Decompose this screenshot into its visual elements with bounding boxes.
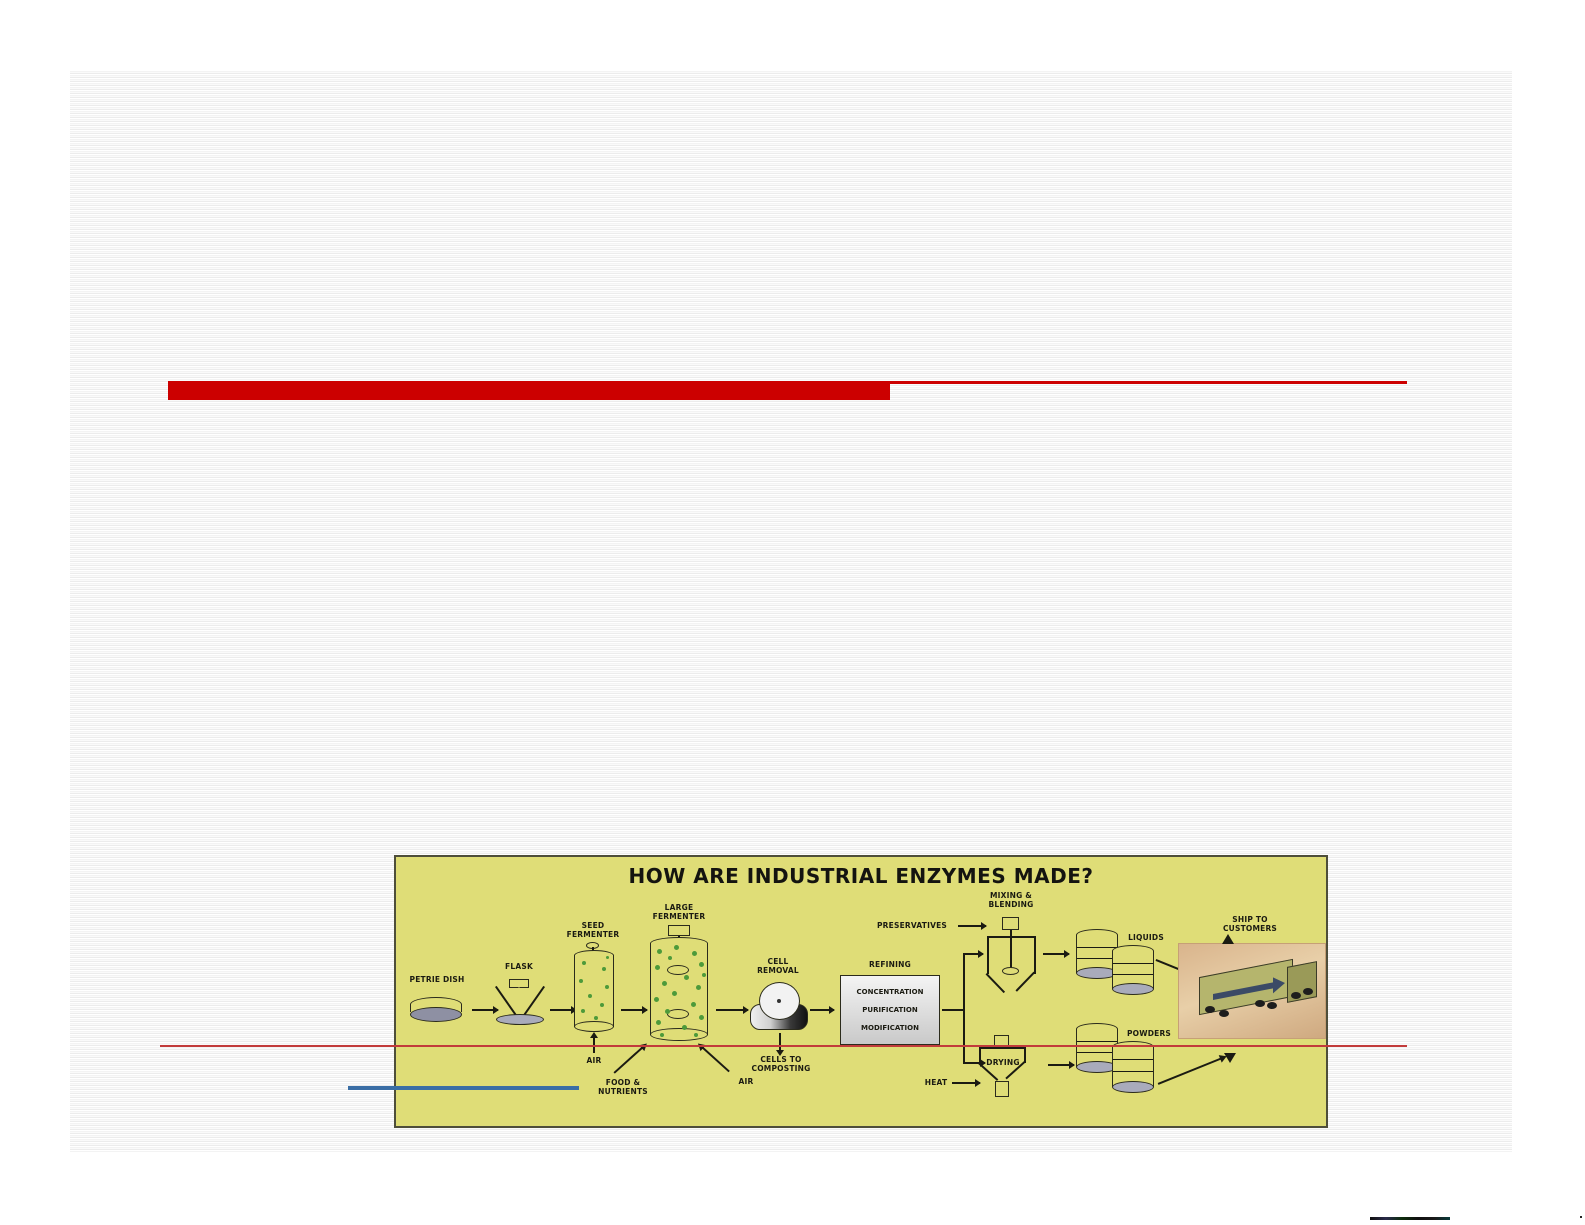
refining-step-purification: PURIFICATION: [841, 1006, 939, 1014]
slide-canvas: HOW ARE INDUSTRIAL ENZYMES MADE? PETRIE …: [70, 70, 1512, 1152]
label-cells-to-composting: CELLS TO COMPOSTING: [746, 1055, 816, 1073]
powders-drum-1-rib: [1077, 1052, 1117, 1053]
cell-speck: [582, 961, 586, 965]
cell-speck: [699, 962, 704, 967]
cell-speck: [606, 956, 609, 959]
mixer-tank-rim: [987, 936, 1035, 938]
large-fermenter-cap: [668, 925, 690, 936]
arrow-preservatives-in: [958, 925, 986, 927]
diagram-title: HOW ARE INDUSTRIAL ENZYMES MADE?: [396, 864, 1326, 888]
cell-speck: [602, 967, 606, 971]
liquids-drum-1-rib: [1077, 958, 1117, 959]
cell-speck: [691, 1002, 696, 1007]
cell-speck: [684, 975, 689, 980]
arrow-seed-to-large-fermenter: [621, 1009, 647, 1011]
label-air-seed: AIR: [576, 1056, 612, 1065]
refining-box[interactable]: CONCENTRATION PURIFICATION MODIFICATION: [840, 975, 940, 1045]
arrow-air-into-large-fermenter: [699, 1044, 730, 1072]
cell-speck: [655, 965, 660, 970]
label-flask: FLASK: [491, 962, 547, 971]
cell-speck: [682, 1025, 687, 1030]
arrow-heat-into-dryer: [952, 1082, 980, 1084]
cell-speck: [696, 985, 701, 990]
cell-speck: [656, 1020, 661, 1025]
cell-speck: [605, 985, 609, 989]
truck-wheel: [1255, 1000, 1265, 1007]
shipping-truck-image: [1178, 943, 1326, 1039]
arrow-mixing-to-liquids: [1043, 953, 1069, 955]
label-refining: REFINING: [842, 960, 938, 969]
powders-drum-2-rib: [1113, 1059, 1153, 1060]
label-air-large: AIR: [726, 1077, 766, 1086]
label-food-nutrients: FOOD & NUTRIENTS: [586, 1078, 660, 1096]
cell-speck: [665, 1009, 670, 1014]
arrow-to-mixing-blending: [963, 953, 983, 955]
label-liquids: LIQUIDS: [1114, 933, 1178, 942]
refining-step-concentration: CONCENTRATION: [841, 988, 939, 996]
label-heat: HEAT: [918, 1078, 954, 1087]
arrow-cells-to-composting: [779, 1033, 781, 1051]
truck-wheel: [1219, 1010, 1229, 1017]
shipping-arrowhead-top: [1222, 934, 1234, 944]
arrow-drying-to-powders: [1048, 1064, 1074, 1066]
refining-outlet-stub: [942, 1009, 964, 1011]
cell-speck: [674, 945, 679, 950]
cell-speck: [579, 979, 583, 983]
arrow-flask-to-seed-fermenter: [550, 1009, 576, 1011]
label-powders: POWDERS: [1114, 1029, 1184, 1038]
powders-drum-2-rib: [1113, 1071, 1153, 1072]
refining-step-modification: MODIFICATION: [841, 1024, 939, 1032]
mixer-tank-left-wall: [987, 936, 989, 974]
mixer-cone-left: [986, 973, 1005, 993]
truck-wheel: [1205, 1006, 1215, 1013]
cell-speck: [600, 1003, 604, 1007]
liquids-drum-2-bottom: [1112, 983, 1154, 995]
arrow-fermenter-to-cell-removal: [716, 1009, 748, 1011]
label-drying: DRYING: [980, 1058, 1026, 1067]
bottom-edge-dot-artifact: [1580, 1216, 1582, 1218]
truck-wheel: [1303, 988, 1313, 995]
mixer-tank-right-wall: [1034, 936, 1036, 974]
cell-speck: [662, 981, 667, 986]
label-preservatives: PRESERVATIVES: [866, 921, 958, 930]
liquids-drum-1-rib: [1077, 947, 1117, 948]
flask-liquid: [496, 1014, 544, 1025]
mixer-impeller: [1002, 967, 1019, 975]
large-fermenter-bottom: [650, 1028, 708, 1041]
arrow-cell-removal-to-refining: [810, 1009, 834, 1011]
slide-body-text[interactable]: [168, 415, 1408, 765]
powders-drum-1-rib: [1077, 1041, 1117, 1042]
cell-speck: [581, 1009, 585, 1013]
source-hyperlink[interactable]: [348, 1086, 579, 1090]
label-cell-removal: CELL REMOVAL: [748, 957, 808, 975]
powders-drum-2-bottom: [1112, 1081, 1154, 1093]
cell-speck: [692, 951, 697, 956]
label-ship-to-customers: SHIP TO CUSTOMERS: [1208, 915, 1292, 933]
cell-speck: [654, 997, 659, 1002]
cell-speck: [594, 1016, 598, 1020]
mixer-cone-right: [1016, 972, 1035, 992]
cell-speck: [702, 973, 706, 977]
label-large-fermenter: LARGE FERMENTER: [639, 903, 719, 921]
liquids-drum-2-rib: [1113, 963, 1153, 964]
truck-wheel: [1267, 1002, 1277, 1009]
cell-speck: [657, 949, 662, 954]
shipping-arrowhead-bottom: [1224, 1053, 1236, 1063]
cell-speck: [699, 1015, 704, 1020]
arrow-food-nutrients-into-fermenter: [613, 1044, 645, 1073]
centrifuge-hub: [777, 999, 781, 1003]
cell-speck: [660, 1033, 664, 1037]
dryer-top-rim: [979, 1047, 1025, 1049]
petrie-dish-base: [410, 1007, 462, 1022]
slide-title[interactable]: [168, 220, 1408, 370]
cell-speck: [694, 1033, 698, 1037]
truck-wheel: [1291, 992, 1301, 999]
label-petrie-dish: PETRIE DISH: [402, 975, 472, 984]
title-divider-thick-bar: [168, 381, 890, 400]
mixer-motor-icon: [1002, 917, 1019, 930]
bottom-divider-rule: [160, 1045, 1407, 1047]
dryer-outlet: [995, 1081, 1009, 1097]
bottom-edge-artifact: [1370, 1217, 1450, 1220]
cell-speck: [672, 991, 677, 996]
cell-speck: [588, 994, 592, 998]
large-fermenter-impeller-bottom: [667, 1009, 689, 1019]
label-seed-fermenter: SEED FERMENTER: [562, 921, 624, 939]
liquids-drum-2-rib: [1113, 974, 1153, 975]
seed-fermenter-bottom: [574, 1021, 614, 1032]
large-fermenter-impeller-top: [667, 965, 689, 975]
arrow-powders-to-shipping: [1158, 1056, 1225, 1084]
cell-speck: [668, 956, 672, 960]
label-mixing-blending: MIXING & BLENDING: [974, 891, 1048, 909]
